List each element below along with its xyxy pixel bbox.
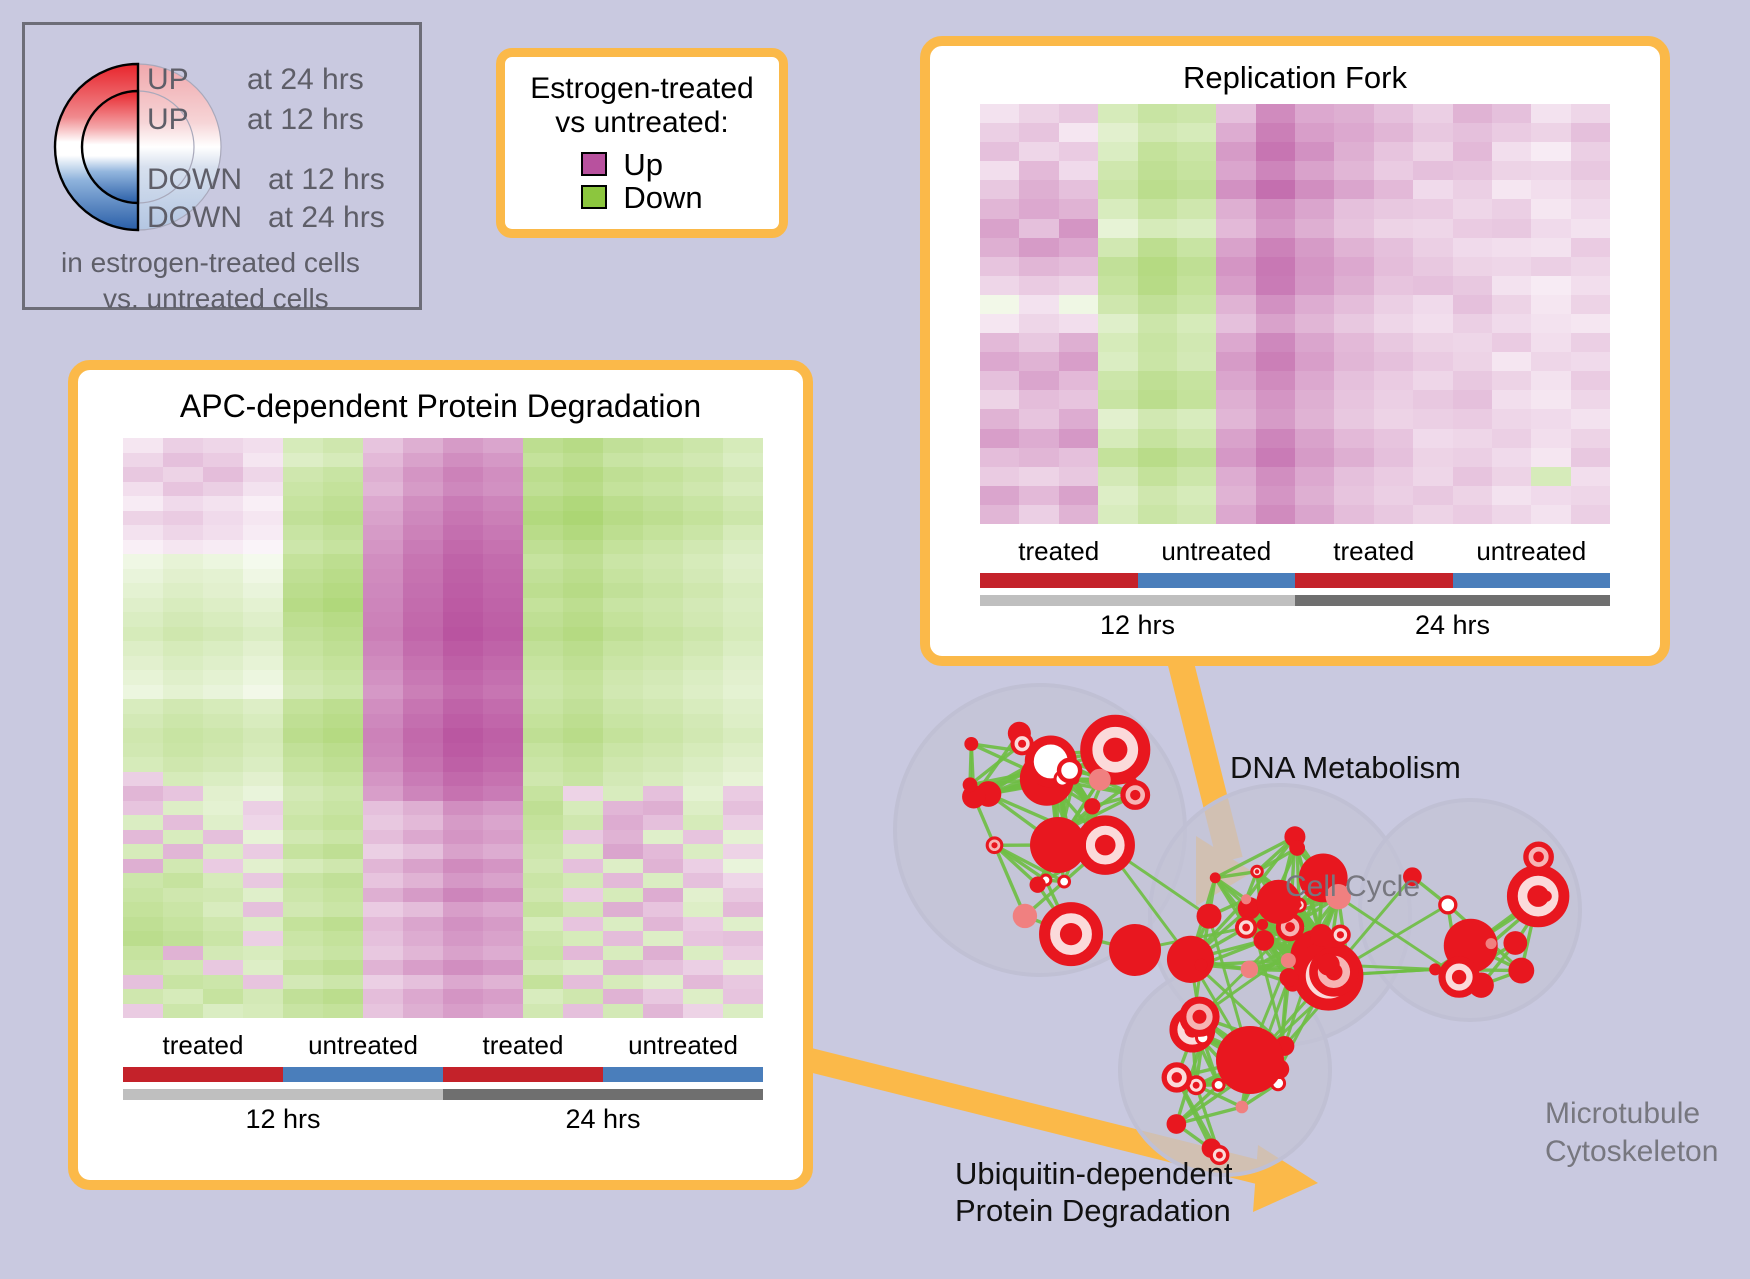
heatmap-cell — [243, 511, 283, 526]
heatmap-cell — [123, 540, 163, 555]
heatmap-cell — [163, 960, 203, 975]
heatmap-cell — [483, 728, 523, 743]
heatmap-cell — [1531, 352, 1570, 371]
panel-title-replication-fork: Replication Fork — [930, 60, 1660, 96]
heatmap-cell — [1019, 409, 1058, 428]
heatmap-cell — [980, 505, 1019, 524]
heatmap-cell — [283, 714, 323, 729]
heatmap-cell — [163, 1004, 203, 1019]
down-swatch-icon — [581, 185, 607, 209]
heatmap-cell — [243, 960, 283, 975]
heatmap-cell — [1453, 199, 1492, 218]
heatmap-cell — [1138, 104, 1177, 123]
heatmap-cell — [1334, 123, 1373, 142]
heatmap-cell — [723, 670, 763, 685]
heatmap-cell — [563, 685, 603, 700]
heatmap-cell — [363, 670, 403, 685]
heatmap-cell — [1453, 505, 1492, 524]
heatmap-cell — [1256, 429, 1295, 448]
heatmap-cell — [643, 482, 683, 497]
heatmap-cell — [483, 743, 523, 758]
heatmap-cell — [723, 975, 763, 990]
heatmap-cell — [363, 931, 403, 946]
heatmap-cell — [483, 888, 523, 903]
heatmap-cell — [443, 917, 483, 932]
heatmap-cell — [563, 453, 603, 468]
heatmap-cell — [203, 728, 243, 743]
legend-item-up: Up — [581, 149, 702, 180]
heatmap-cell — [1492, 314, 1531, 333]
heatmap-cell — [1453, 180, 1492, 199]
collabel-apc-1: untreated — [283, 1030, 443, 1061]
heatmap-cell — [123, 801, 163, 816]
network-label-dna-metabolism: DNA Metabolism — [1230, 750, 1461, 786]
heatmap-cell — [363, 685, 403, 700]
heatmap-cell — [1295, 219, 1334, 238]
heatmap-cell — [603, 830, 643, 845]
heatmap-cell — [1413, 123, 1452, 142]
heatmap-cell — [323, 511, 363, 526]
timelabel-apc-24: 24 hrs — [443, 1104, 763, 1135]
heatmap-cell — [123, 569, 163, 584]
network-node-core — [1062, 879, 1067, 884]
heatmap-cell — [723, 917, 763, 932]
heatmap-cell — [643, 902, 683, 917]
heatmap-cell — [363, 917, 403, 932]
heatmap-cell — [163, 975, 203, 990]
heatmap-cell — [1216, 409, 1255, 428]
heatmap-cell — [123, 627, 163, 642]
network-label-cell-cycle: Cell Cycle — [1285, 870, 1420, 904]
heatmap-cell — [643, 467, 683, 482]
heatmap-cell — [283, 540, 323, 555]
collabel-apc-2: treated — [443, 1030, 603, 1061]
network-label-microtubule-line1: Microtubule — [1545, 1095, 1718, 1133]
heatmap-cell — [1138, 371, 1177, 390]
heatmap-cell — [1413, 505, 1452, 524]
heatmap-cell — [363, 467, 403, 482]
collabel-rf-1: untreated — [1138, 536, 1296, 567]
heatmap-cell — [403, 656, 443, 671]
network-node — [1257, 919, 1268, 930]
heatmap-cell — [483, 801, 523, 816]
heatmap-cell — [1571, 142, 1610, 161]
heatmap-cell — [443, 554, 483, 569]
heatmap-cell — [323, 583, 363, 598]
heatmap-cell — [1098, 219, 1137, 238]
heatmap-cell — [1295, 257, 1334, 276]
heatmap-cell — [123, 496, 163, 511]
heatmap-cell — [683, 583, 723, 598]
heatmap-cell — [1177, 333, 1216, 352]
heatmap-cell — [1256, 123, 1295, 142]
heatmap-cell — [403, 830, 443, 845]
heatmap-cell — [723, 482, 763, 497]
wheel-caption-line2: vs. untreated cells — [103, 283, 329, 315]
heatmap-cell — [123, 902, 163, 917]
heatmap-cell — [403, 1004, 443, 1019]
heatmap-cell — [483, 815, 523, 830]
heatmap-cell — [243, 1004, 283, 1019]
heatmap-cell — [563, 989, 603, 1004]
heatmap-cell — [403, 670, 443, 685]
heatmap-cell — [1413, 314, 1452, 333]
heatmap-cell — [363, 525, 403, 540]
heatmap-cell — [403, 728, 443, 743]
heatmap-cell — [643, 438, 683, 453]
heatmap-cell — [203, 569, 243, 584]
heatmap-cell — [1216, 467, 1255, 486]
heatmap-cell — [203, 888, 243, 903]
heatmap-cell — [443, 743, 483, 758]
heatmap-cell — [243, 772, 283, 787]
heatmap-cell — [523, 786, 563, 801]
heatmap-cell — [483, 1004, 523, 1019]
heatmap-cell — [563, 496, 603, 511]
heatmap-cell — [283, 496, 323, 511]
heatmap-cell — [1098, 352, 1137, 371]
heatmap-cell — [403, 554, 443, 569]
heatmap-cell — [980, 180, 1019, 199]
heatmap-cell — [603, 859, 643, 874]
heatmap-cell — [1413, 371, 1452, 390]
network-node — [1013, 904, 1037, 928]
heatmap-cell — [523, 743, 563, 758]
heatmap-cell — [283, 757, 323, 772]
heatmap-cell — [523, 960, 563, 975]
heatmap-cell — [1334, 409, 1373, 428]
heatmap-cell — [323, 685, 363, 700]
heatmap-cell — [723, 844, 763, 859]
heatmap-cell — [563, 917, 603, 932]
heatmap-cell — [243, 583, 283, 598]
heatmap-cell — [443, 467, 483, 482]
heatmap-cell — [1571, 505, 1610, 524]
heatmap-cell — [683, 931, 723, 946]
heatmap-cell — [1374, 142, 1413, 161]
heatmap-cell — [323, 525, 363, 540]
heatmap-cell — [483, 714, 523, 729]
heatmap-cell — [1453, 238, 1492, 257]
heatmap-cell — [523, 540, 563, 555]
heatmap-cell — [1177, 180, 1216, 199]
heatmap-cell — [1138, 142, 1177, 161]
time-bar-segment-0 — [123, 1089, 443, 1100]
heatmap-cell — [483, 627, 523, 642]
heatmap-cell — [643, 554, 683, 569]
heatmap-cell — [1059, 486, 1098, 505]
heatmap-cell — [1571, 123, 1610, 142]
heatmap-cell — [563, 946, 603, 961]
heatmap-cell — [403, 511, 443, 526]
heatmap-cell — [1256, 505, 1295, 524]
heatmap-cell — [643, 583, 683, 598]
heatmap-cell — [203, 482, 243, 497]
heatmap-cell — [123, 438, 163, 453]
heatmap-cell — [203, 670, 243, 685]
heatmap-cell — [603, 902, 643, 917]
heatmap-cell — [323, 699, 363, 714]
heatmap-cell — [523, 815, 563, 830]
network-node — [1197, 904, 1222, 929]
heatmap-cell — [243, 728, 283, 743]
heatmap-cell — [403, 815, 443, 830]
heatmap-cell — [603, 975, 643, 990]
time-bar-segment-1 — [443, 1089, 763, 1100]
color-wheel-legend: UP at 24 hrs UP at 12 hrs DOWN at 12 hrs… — [22, 22, 422, 310]
heatmap-cell — [323, 612, 363, 627]
heatmap-cell — [723, 1004, 763, 1019]
heatmap-cell — [1295, 505, 1334, 524]
heatmap-cell — [1295, 333, 1334, 352]
network-node — [1030, 817, 1086, 873]
heatmap-cell — [123, 888, 163, 903]
heatmap-cell — [683, 960, 723, 975]
heatmap-cell — [980, 257, 1019, 276]
heatmap-cell — [283, 569, 323, 584]
heatmap-cell — [363, 743, 403, 758]
heatmap-cell — [643, 627, 683, 642]
heatmap-cell — [443, 801, 483, 816]
heatmap-cell — [643, 728, 683, 743]
heatmap-cell — [683, 815, 723, 830]
heatmap-cell — [123, 482, 163, 497]
heatmap-cell — [523, 699, 563, 714]
heatmap-cell — [163, 453, 203, 468]
heatmap-cell — [723, 583, 763, 598]
heatmap-cell — [323, 989, 363, 1004]
heatmap-cell — [1374, 257, 1413, 276]
network-label-ubiquitin: Ubiquitin-dependent Protein Degradation — [955, 1155, 1233, 1229]
heatmap-cell — [323, 786, 363, 801]
heatmap-cell — [483, 786, 523, 801]
heatmap-cell — [523, 598, 563, 613]
heatmap-cell — [523, 757, 563, 772]
heatmap-cell — [1019, 123, 1058, 142]
heatmap-cell — [123, 453, 163, 468]
heatmap-cell — [683, 844, 723, 859]
heatmap-cell — [323, 743, 363, 758]
heatmap-cell — [1216, 448, 1255, 467]
heatmap-cell — [283, 786, 323, 801]
heatmap-cell — [643, 772, 683, 787]
heatmap-cell — [123, 1004, 163, 1019]
heatmap-cell — [203, 699, 243, 714]
heatmap-cell — [683, 598, 723, 613]
heatmap-cell — [1571, 409, 1610, 428]
heatmap-cell — [523, 641, 563, 656]
heatmap-cell — [123, 844, 163, 859]
heatmap-cell — [723, 931, 763, 946]
heatmap-cell — [980, 142, 1019, 161]
heatmap-cell — [1413, 142, 1452, 161]
heatmap-cell — [563, 482, 603, 497]
heatmap-cell — [683, 554, 723, 569]
heatmap-cell — [1177, 486, 1216, 505]
heatmap-cell — [603, 612, 643, 627]
heatmap-cell — [723, 714, 763, 729]
heatmap-cell — [243, 438, 283, 453]
heatmap-cell — [1531, 467, 1570, 486]
heatmap-cell — [203, 438, 243, 453]
heatmap-cell — [643, 540, 683, 555]
heatmap-cell — [403, 946, 443, 961]
heatmap-cell — [563, 511, 603, 526]
heatmap-cell — [1256, 314, 1295, 333]
heatmap-cell — [203, 685, 243, 700]
heatmap-cell — [403, 453, 443, 468]
heatmap-cell — [283, 612, 323, 627]
heatmap-cell — [403, 801, 443, 816]
heatmap-cell — [1571, 257, 1610, 276]
heatmap-cell — [163, 801, 203, 816]
heatmap-cell — [980, 429, 1019, 448]
network-label-microtubule-line2: Cytoskeleton — [1545, 1133, 1718, 1171]
heatmap-cell — [363, 714, 403, 729]
heatmap-cell — [323, 728, 363, 743]
heatmap-cell — [523, 496, 563, 511]
heatmap-cell — [243, 641, 283, 656]
heatmap-cell — [123, 975, 163, 990]
heatmap-cell — [563, 859, 603, 874]
heatmap-cell — [1453, 448, 1492, 467]
heatmap-cell — [363, 641, 403, 656]
heatmap-cell — [1374, 467, 1413, 486]
heatmap-cell — [1295, 142, 1334, 161]
heatmap-cell — [1571, 486, 1610, 505]
heatmap-replication-fork — [980, 104, 1610, 524]
heatmap-cell — [1492, 238, 1531, 257]
heatmap-cell — [723, 772, 763, 787]
network-node-core — [1130, 790, 1140, 800]
heatmap-cell — [163, 554, 203, 569]
heatmap-cell — [363, 554, 403, 569]
heatmap-cell — [243, 598, 283, 613]
heatmap-cell — [1256, 199, 1295, 218]
heatmap-cell — [323, 670, 363, 685]
heatmap-cell — [1059, 142, 1098, 161]
heatmap-cell — [723, 815, 763, 830]
heatmap-cell — [283, 685, 323, 700]
heatmap-cell — [1059, 429, 1098, 448]
heatmap-cell — [283, 438, 323, 453]
heatmap-cell — [1256, 371, 1295, 390]
heatmap-cell — [643, 786, 683, 801]
heatmap-cell — [123, 467, 163, 482]
heatmap-cell — [123, 859, 163, 874]
heatmap-cell — [603, 743, 643, 758]
heatmap-cell — [683, 612, 723, 627]
heatmap-cell — [1374, 371, 1413, 390]
heatmap-cell — [1453, 371, 1492, 390]
heatmap-cell — [683, 482, 723, 497]
heatmap-cell — [203, 801, 243, 816]
heatmap-cell — [643, 598, 683, 613]
updown-legend-card: Estrogen-treated vs untreated: Up Down — [496, 48, 788, 238]
heatmap-cell — [1374, 123, 1413, 142]
heatmap-cell — [1295, 238, 1334, 257]
heatmap-cell — [243, 975, 283, 990]
heatmap-cell — [1453, 390, 1492, 409]
heatmap-cell — [163, 888, 203, 903]
heatmap-cell — [163, 902, 203, 917]
heatmap-cell — [1571, 390, 1610, 409]
heatmap-cell — [1492, 333, 1531, 352]
updown-legend-title-line2: vs untreated: — [530, 106, 753, 141]
heatmap-cell — [243, 453, 283, 468]
heatmap-cell — [1295, 199, 1334, 218]
heatmap-cell — [723, 830, 763, 845]
collabel-apc-0: treated — [123, 1030, 283, 1061]
heatmap-cell — [1334, 467, 1373, 486]
heatmap-cell — [1571, 314, 1610, 333]
heatmap-cell — [723, 743, 763, 758]
heatmap-cell — [203, 714, 243, 729]
heatmap-cell — [1059, 238, 1098, 257]
heatmap-cell — [1256, 238, 1295, 257]
network-node — [1210, 872, 1221, 883]
heatmap-cell — [1098, 295, 1137, 314]
network-node-core — [1171, 1072, 1182, 1083]
heatmap-cell — [1059, 123, 1098, 142]
heatmap-cell — [523, 902, 563, 917]
heatmap-cell — [643, 859, 683, 874]
heatmap-cell — [683, 496, 723, 511]
heatmap-cell — [163, 917, 203, 932]
network-node — [1503, 931, 1527, 955]
heatmap-cell — [123, 511, 163, 526]
heatmap-cell — [643, 757, 683, 772]
heatmap-cell — [283, 670, 323, 685]
heatmap-cell — [1374, 199, 1413, 218]
heatmap-cell — [283, 859, 323, 874]
heatmap-cell — [563, 641, 603, 656]
heatmap-cell — [403, 757, 443, 772]
heatmap-cell — [563, 525, 603, 540]
heatmap-cell — [403, 714, 443, 729]
heatmap-cell — [1216, 238, 1255, 257]
heatmap-cell — [1531, 390, 1570, 409]
heatmap-cell — [323, 931, 363, 946]
heatmap-cell — [1019, 238, 1058, 257]
heatmap-cell — [1138, 180, 1177, 199]
heatmap-cell — [1374, 104, 1413, 123]
updown-legend-items: Up Down — [581, 147, 702, 215]
network-node-core — [1255, 869, 1259, 873]
up-swatch-icon — [581, 152, 607, 176]
heatmap-cell — [1492, 161, 1531, 180]
heatmap-cell — [1374, 390, 1413, 409]
heatmap-cell — [283, 815, 323, 830]
heatmap-cell — [1098, 467, 1137, 486]
heatmap-cell — [243, 482, 283, 497]
heatmap-cell — [443, 873, 483, 888]
heatmap-cell — [1098, 276, 1137, 295]
heatmap-cell — [980, 219, 1019, 238]
heatmap-cell — [723, 656, 763, 671]
heatmap-cell — [1571, 238, 1610, 257]
heatmap-cell — [1295, 161, 1334, 180]
heatmap-cell — [323, 714, 363, 729]
heatmap-cell — [1413, 429, 1452, 448]
heatmap-cell — [603, 1004, 643, 1019]
heatmap-cell — [243, 917, 283, 932]
heatmap-cell — [403, 975, 443, 990]
heatmap-cell — [563, 772, 603, 787]
heatmap-cell — [163, 699, 203, 714]
heatmap-cell — [1059, 180, 1098, 199]
timelabel-rf-12: 12 hrs — [980, 610, 1295, 641]
